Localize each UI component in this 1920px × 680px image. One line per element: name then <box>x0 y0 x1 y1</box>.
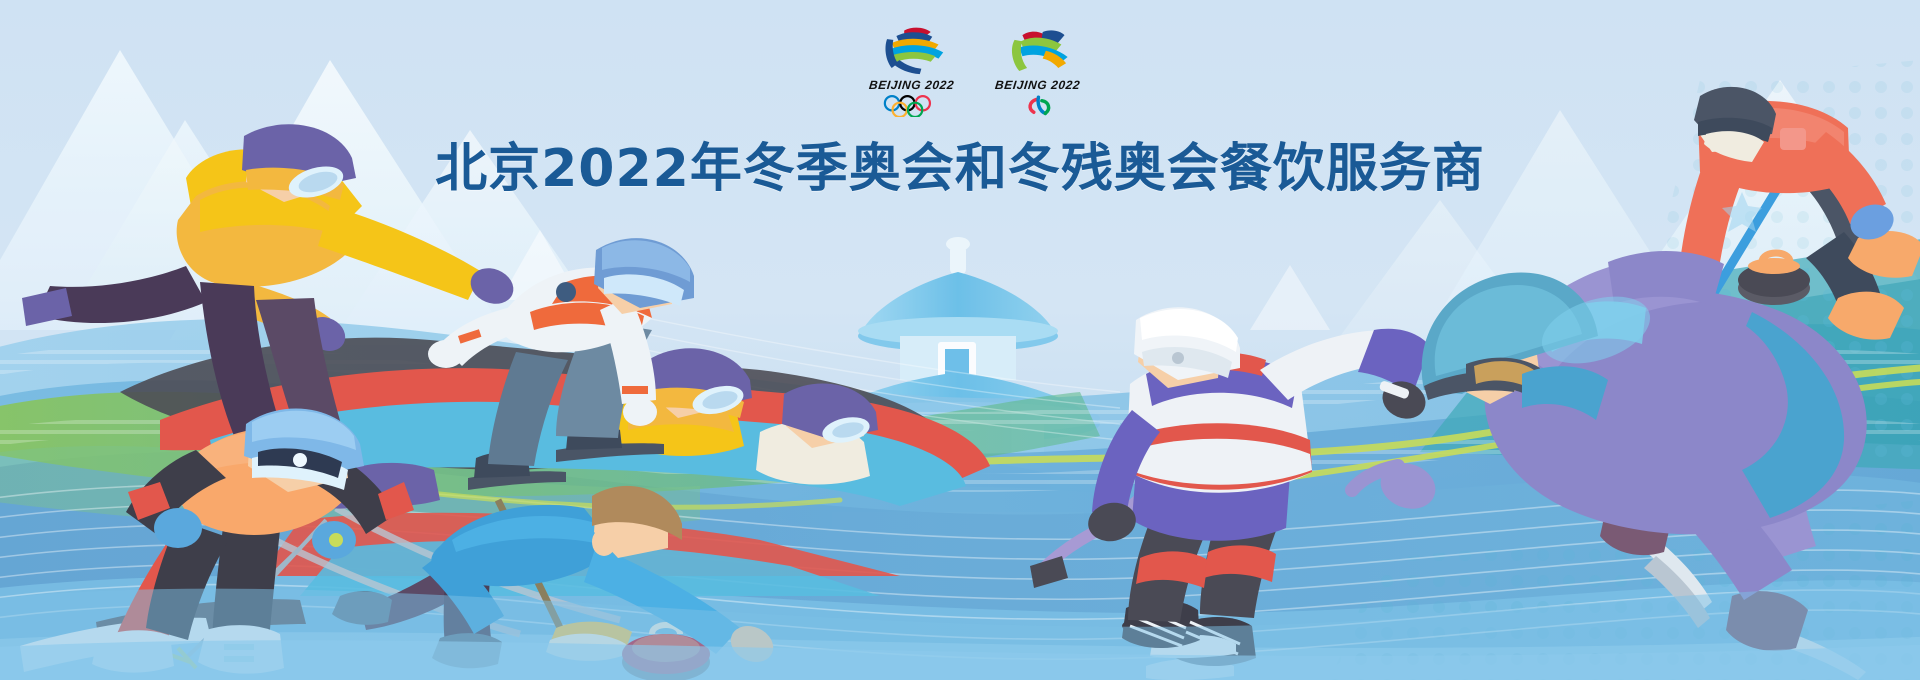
paralympic-agitos-icon <box>1007 95 1069 117</box>
beijing-2022-olympic-emblem: BEIJING 2022 <box>862 24 962 117</box>
emblem-group: BEIJING 2022 BEIJING 20 <box>860 24 1090 128</box>
paralympic-emblem-mark <box>999 24 1077 76</box>
beijing-2022-paralympic-emblem: BEIJING 2022 <box>988 24 1088 117</box>
paralympic-wordmark: BEIJING 2022 <box>995 78 1082 92</box>
olympic-wordmark: BEIJING 2022 <box>869 78 956 92</box>
olympic-emblem-mark <box>873 24 951 76</box>
page-title: 北京2022年冬季奥会和冬残奥会餐饮服务商 <box>0 126 1920 201</box>
olympic-rings-icon <box>881 95 943 117</box>
olympic-banner: BEIJING 2022 BEIJING 20 <box>0 0 1920 680</box>
